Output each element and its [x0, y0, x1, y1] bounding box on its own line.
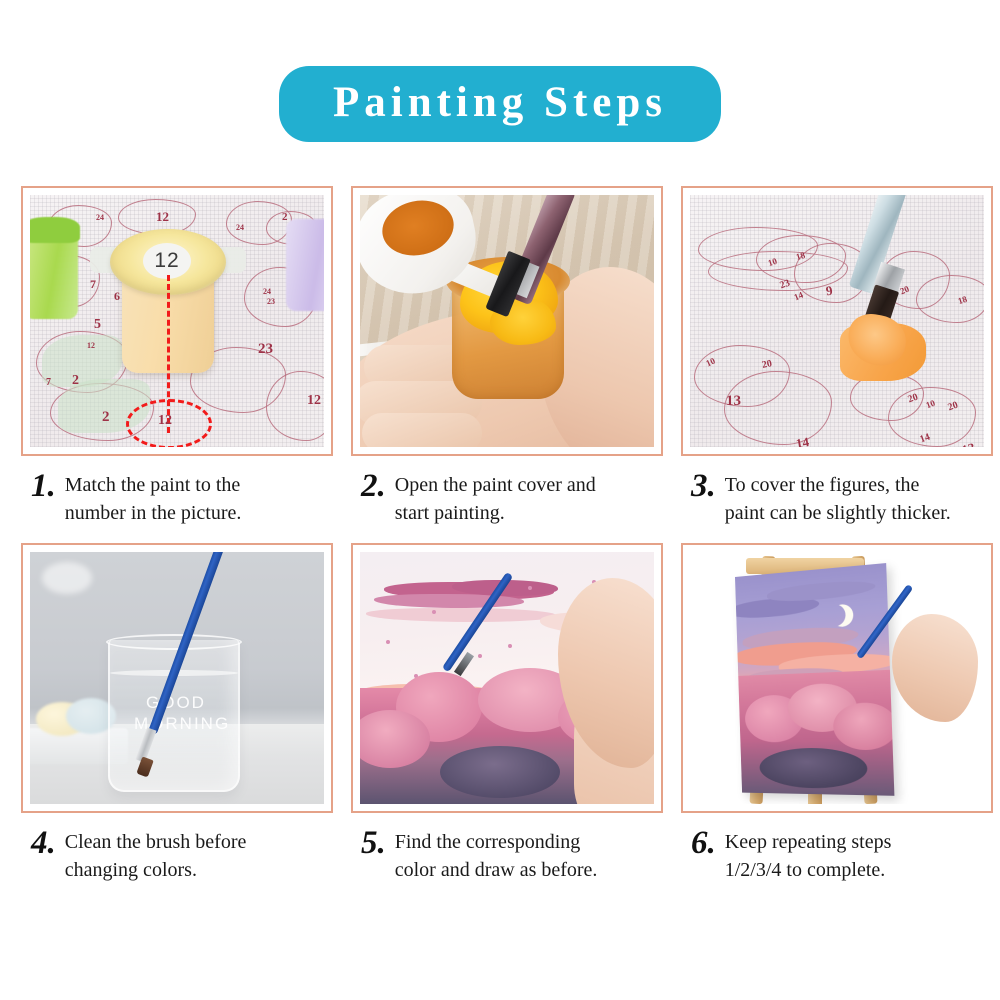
step-text-6: Keep repeating steps 1/2/3/4 to complete…: [725, 825, 892, 884]
step-number-1: 1.: [31, 468, 65, 503]
photo-frame-4: GOOD MORNING: [21, 543, 333, 813]
painting-steps-infographic: Painting Steps: [0, 0, 1000, 1000]
step-caption-3: 3. To cover the figures, the paint can b…: [681, 456, 993, 527]
open-paint-pot-with-brush-photo: [360, 195, 654, 447]
pot-number-sticker: 12: [143, 243, 191, 279]
step-card-3: 10 18 23 14 9 20 18 10 20 13 14 20 10 20…: [681, 186, 993, 527]
hand-painting-blossom-canvas-photo: [360, 552, 654, 804]
step-caption-1: 1. Match the paint to the number in the …: [21, 456, 333, 527]
glass-text-line-1: GOOD: [134, 692, 218, 713]
step-card-2: 2. Open the paint cover and start painti…: [351, 186, 663, 527]
step-caption-5: 5. Find the corresponding color and draw…: [351, 813, 663, 884]
finished-painting-on-easel-photo: [690, 552, 984, 804]
page-header: Painting Steps: [0, 66, 1000, 142]
photo-frame-5: [351, 543, 663, 813]
step-card-1: 12 24 2 24 7 6 5 12 2 7 2 23 24 23 12: [21, 186, 333, 527]
step-card-5: 5. Find the corresponding color and draw…: [351, 543, 663, 884]
step-number-4: 4.: [31, 825, 65, 860]
step-number-3: 3.: [691, 468, 725, 503]
step-text-4: Clean the brush before changing colors.: [65, 825, 247, 884]
brush-in-water-glass-photo: GOOD MORNING: [30, 552, 324, 804]
step-number-2: 2.: [361, 468, 395, 503]
crescent-moon: [820, 601, 848, 630]
photo-frame-6: [681, 543, 993, 813]
purple-paint-jar: [286, 219, 324, 311]
canvas-target-number: 12: [158, 413, 172, 429]
step-text-2: Open the paint cover and start painting.: [395, 468, 596, 527]
photo-frame-3: 10 18 23 14 9 20 18 10 20 13 14 20 10 20…: [681, 186, 993, 456]
step-text-5: Find the corresponding color and draw as…: [395, 825, 598, 884]
page-title: Painting Steps: [325, 80, 675, 125]
step-card-4: GOOD MORNING 4. Clean the brush before c…: [21, 543, 333, 884]
step-number-6: 6.: [691, 825, 725, 860]
step-number-5: 5.: [361, 825, 395, 860]
background-blur-object: [42, 562, 92, 594]
blossom-shadow: [440, 746, 560, 798]
step-text-3: To cover the figures, the paint can be s…: [725, 468, 951, 527]
step-card-6: 6. Keep repeating steps 1/2/3/4 to compl…: [681, 543, 993, 884]
finished-canvas: [735, 563, 894, 796]
photo-frame-1: 12 24 2 24 7 6 5 12 2 7 2 23 24 23 12: [21, 186, 333, 456]
step-caption-4: 4. Clean the brush before changing color…: [21, 813, 333, 884]
step-caption-2: 2. Open the paint cover and start painti…: [351, 456, 663, 527]
photo-frame-2: [351, 186, 663, 456]
step-text-1: Match the paint to the number in the pic…: [65, 468, 242, 527]
paint-pot-on-numbered-canvas-photo: 12 24 2 24 7 6 5 12 2 7 2 23 24 23 12: [30, 195, 324, 447]
title-pill: Painting Steps: [279, 66, 721, 142]
brush-painting-orange-stroke-photo: 10 18 23 14 9 20 18 10 20 13 14 20 10 20…: [690, 195, 984, 447]
steps-grid: 12 24 2 24 7 6 5 12 2 7 2 23 24 23 12: [21, 186, 981, 884]
step-caption-6: 6. Keep repeating steps 1/2/3/4 to compl…: [681, 813, 993, 884]
green-paint-jar-cap: [30, 217, 80, 243]
